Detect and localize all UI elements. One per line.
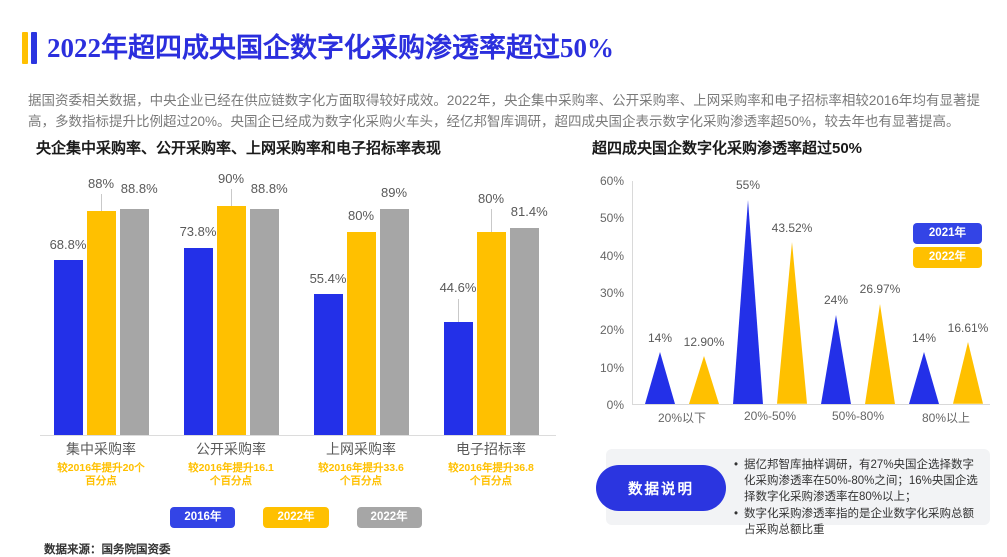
cone-2021 xyxy=(733,200,763,404)
data-source-note: 数据来源：国务院国资委 xyxy=(44,541,171,557)
bar-value-label: 88.8% xyxy=(251,181,288,196)
cone-value-label: 14% xyxy=(912,331,936,345)
category-label: 集中采购率 xyxy=(36,439,166,459)
cone-2021 xyxy=(821,315,851,404)
right-cone-chart: 0% 10% 20% 30% 40% 50% 60% 14% xyxy=(592,181,990,431)
cone-value-label: 12.90% xyxy=(684,335,725,349)
left-chart-legend: 2016年 2022年 2022年 xyxy=(36,507,556,528)
cone-column: 55% xyxy=(733,181,763,404)
bar-2016 xyxy=(314,294,343,435)
bar-2022-grey xyxy=(250,209,279,435)
bar-column: 68.8% xyxy=(54,181,83,435)
list-item: • 数字化采购渗透率指的是企业数字化采购总额占采购总额比重 xyxy=(734,506,980,538)
category-item: 电子招标率 较2016年提升36.8个百分点 xyxy=(426,439,556,488)
cone-group: 14% 12.90% xyxy=(638,181,726,404)
right-chart-y-axis: 0% 10% 20% 30% 40% 50% 60% xyxy=(592,181,628,405)
label-leader-line xyxy=(231,189,232,207)
cone-group: 55% 43.52% xyxy=(726,181,814,404)
bar-2022-yellow xyxy=(87,211,116,435)
cone-value-label: 16.61% xyxy=(948,321,989,335)
cone-group: 14% 16.61% xyxy=(902,181,990,404)
bar-2022-grey xyxy=(380,209,409,435)
list-item-text: 数字化采购渗透率指的是企业数字化采购总额占采购总额比重 xyxy=(744,506,980,538)
legend-pill-2022-yellow[interactable]: 2022年 xyxy=(263,507,328,528)
bar-2022-yellow xyxy=(347,232,376,435)
category-item: 集中采购率 较2016年提升20个百分点 xyxy=(36,439,166,488)
page-title: 2022年超四成央国企数字化采购渗透率超过50% xyxy=(47,32,614,64)
cone-column: 43.52% xyxy=(777,181,807,404)
right-chart-groups: 14% 12.90% xyxy=(638,181,990,404)
data-note-callout: 数据说明 • 据亿邦智库抽样调研，有27%央国企选择数字化采购渗透率在50%-8… xyxy=(606,449,990,525)
cone-column: 14% xyxy=(645,181,675,404)
bar-2022-grey xyxy=(120,209,149,435)
cone-column: 14% xyxy=(909,181,939,404)
bar-value-label: 80% xyxy=(348,208,374,223)
category-item: 公开采购率 较2016年提升16.1个百分点 xyxy=(166,439,296,488)
category-note: 较2016年提升33.6个百分点 xyxy=(315,462,407,488)
category-label: 公开采购率 xyxy=(166,439,296,459)
bar-column: 44.6% xyxy=(444,181,473,435)
left-chart-panel: 央企集中采购率、公开采购率、上网采购率和电子招标率表现 68.8% 88% xyxy=(36,139,556,436)
list-item: • 据亿邦智库抽样调研，有27%央国企选择数字化采购渗透率在50%-80%之间；… xyxy=(734,457,980,505)
cone-value-label: 43.52% xyxy=(772,221,813,235)
category-label: 电子招标率 xyxy=(426,439,556,459)
cone-2021 xyxy=(645,352,675,404)
cone-value-label: 55% xyxy=(736,178,760,192)
category-label: 20%-50% xyxy=(726,409,814,426)
bar-value-label: 88% xyxy=(88,176,114,191)
cone-value-label: 14% xyxy=(648,331,672,345)
bar-column: 90% xyxy=(217,181,246,435)
y-tick: 0% xyxy=(607,398,624,412)
category-label: 上网采购率 xyxy=(296,439,426,459)
y-tick: 50% xyxy=(600,211,624,225)
left-chart-title: 央企集中采购率、公开采购率、上网采购率和电子招标率表现 xyxy=(36,139,556,159)
legend-pill-2021[interactable]: 2021年 xyxy=(913,223,982,244)
y-tick: 60% xyxy=(600,174,624,188)
right-chart-y-axis-line xyxy=(632,181,633,405)
bar-column: 89% xyxy=(380,181,409,435)
cone-column: 16.61% xyxy=(953,181,983,404)
bar-value-label: 81.4% xyxy=(511,204,548,219)
left-chart-groups: 68.8% 88% 88.8% 73 xyxy=(36,181,556,435)
bullet-icon: • xyxy=(734,506,738,538)
cone-column: 24% xyxy=(821,181,851,404)
bar-column: 80% xyxy=(477,181,506,435)
right-chart-panel: 超四成央国企数字化采购渗透率超过50% 0% 10% 20% 30% 40% 5… xyxy=(592,139,990,431)
bar-2022-grey xyxy=(510,228,539,435)
bar-2016 xyxy=(444,322,473,435)
category-label: 20%以下 xyxy=(638,409,726,426)
cone-value-label: 26.97% xyxy=(860,282,901,296)
category-label: 50%-80% xyxy=(814,409,902,426)
bar-value-label: 80% xyxy=(478,191,504,206)
legend-pill-2022-grey[interactable]: 2022年 xyxy=(357,507,422,528)
bullet-icon: • xyxy=(734,457,738,505)
bar-value-label: 88.8% xyxy=(121,181,158,196)
bar-2016 xyxy=(54,260,83,435)
y-tick: 30% xyxy=(600,286,624,300)
y-tick: 40% xyxy=(600,249,624,263)
data-note-badge: 数据说明 xyxy=(596,465,726,511)
bar-column: 80% xyxy=(347,181,376,435)
right-chart-title: 超四成央国企数字化采购渗透率超过50% xyxy=(592,139,990,159)
bar-value-label: 73.8% xyxy=(180,224,217,239)
bar-2016 xyxy=(184,248,213,435)
left-bar-chart: 68.8% 88% 88.8% 73 xyxy=(36,181,556,436)
cone-column: 12.90% xyxy=(689,181,719,404)
title-accent-marks xyxy=(22,32,37,64)
legend-pill-2022[interactable]: 2022年 xyxy=(913,247,982,268)
list-item-text: 据亿邦智库抽样调研，有27%央国企选择数字化采购渗透率在50%-80%之间；16… xyxy=(744,457,980,505)
left-chart-category-labels: 集中采购率 较2016年提升20个百分点 公开采购率 较2016年提升16.1个… xyxy=(36,439,556,488)
bar-column: 73.8% xyxy=(184,181,213,435)
bar-column: 88.8% xyxy=(250,181,279,435)
bar-value-label: 89% xyxy=(381,185,407,200)
cone-2021 xyxy=(909,352,939,404)
label-leader-line xyxy=(491,209,492,232)
category-note: 较2016年提升20个百分点 xyxy=(55,462,147,488)
accent-mark-blue xyxy=(31,32,37,64)
y-tick: 10% xyxy=(600,361,624,375)
bar-group: 68.8% 88% 88.8% xyxy=(36,181,166,435)
cone-column: 26.97% xyxy=(865,181,895,404)
right-chart-baseline xyxy=(632,404,990,405)
bar-value-label: 55.4% xyxy=(310,271,347,286)
cone-2022 xyxy=(689,356,719,404)
category-label: 80%以上 xyxy=(902,409,990,426)
bar-group: 44.6% 80% 81.4% xyxy=(426,181,556,435)
cone-value-label: 24% xyxy=(824,293,848,307)
category-note: 较2016年提升36.8个百分点 xyxy=(445,462,537,488)
bar-2022-yellow xyxy=(477,232,506,435)
right-chart-legend: 2021年 2022年 xyxy=(913,223,982,268)
bar-value-label: 90% xyxy=(218,171,244,186)
infographic-page: 2022年超四成央国企数字化采购渗透率超过50% 据国资委相关数据，中央企业已经… xyxy=(0,0,1007,539)
cone-group: 24% 26.97% xyxy=(814,181,902,404)
left-chart-baseline xyxy=(40,435,556,436)
bar-value-label: 68.8% xyxy=(50,237,87,252)
bar-2022-yellow xyxy=(217,206,246,435)
bar-column: 81.4% xyxy=(510,181,539,435)
label-leader-line xyxy=(101,194,102,212)
lead-paragraph: 据国资委相关数据，中央企业已经在供应链数字化方面取得较好成效。2022年，央企集… xyxy=(28,91,980,132)
right-chart-category-labels: 20%以下 20%-50% 50%-80% 80%以上 xyxy=(638,409,990,426)
bar-column: 88.8% xyxy=(120,181,149,435)
category-item: 上网采购率 较2016年提升33.6个百分点 xyxy=(296,439,426,488)
cone-2022 xyxy=(953,342,983,404)
accent-mark-yellow xyxy=(22,32,28,64)
bar-group: 55.4% 80% 89% xyxy=(296,181,426,435)
cone-2022 xyxy=(865,304,895,404)
lead-paragraph-text: 据国资委相关数据，中央企业已经在供应链数字化方面取得较好成效。2022年，央企集… xyxy=(28,91,980,132)
bar-column: 55.4% xyxy=(314,181,343,435)
legend-pill-2016[interactable]: 2016年 xyxy=(170,507,235,528)
header: 2022年超四成央国企数字化采购渗透率超过50% 据国资委相关数据，中央企业已经… xyxy=(22,14,982,132)
bar-column: 88% xyxy=(87,181,116,435)
data-note-list: • 据亿邦智库抽样调研，有27%央国企选择数字化采购渗透率在50%-80%之间；… xyxy=(734,457,980,539)
bar-value-label: 44.6% xyxy=(440,280,477,295)
bar-group: 73.8% 90% 88.8% xyxy=(166,181,296,435)
category-note: 较2016年提升16.1个百分点 xyxy=(185,462,277,488)
cone-2022 xyxy=(777,242,807,404)
right-chart-plot-area: 14% 12.90% xyxy=(632,181,990,405)
y-tick: 20% xyxy=(600,323,624,337)
label-leader-line xyxy=(458,299,459,322)
title-row: 2022年超四成央国企数字化采购渗透率超过50% xyxy=(22,14,982,82)
